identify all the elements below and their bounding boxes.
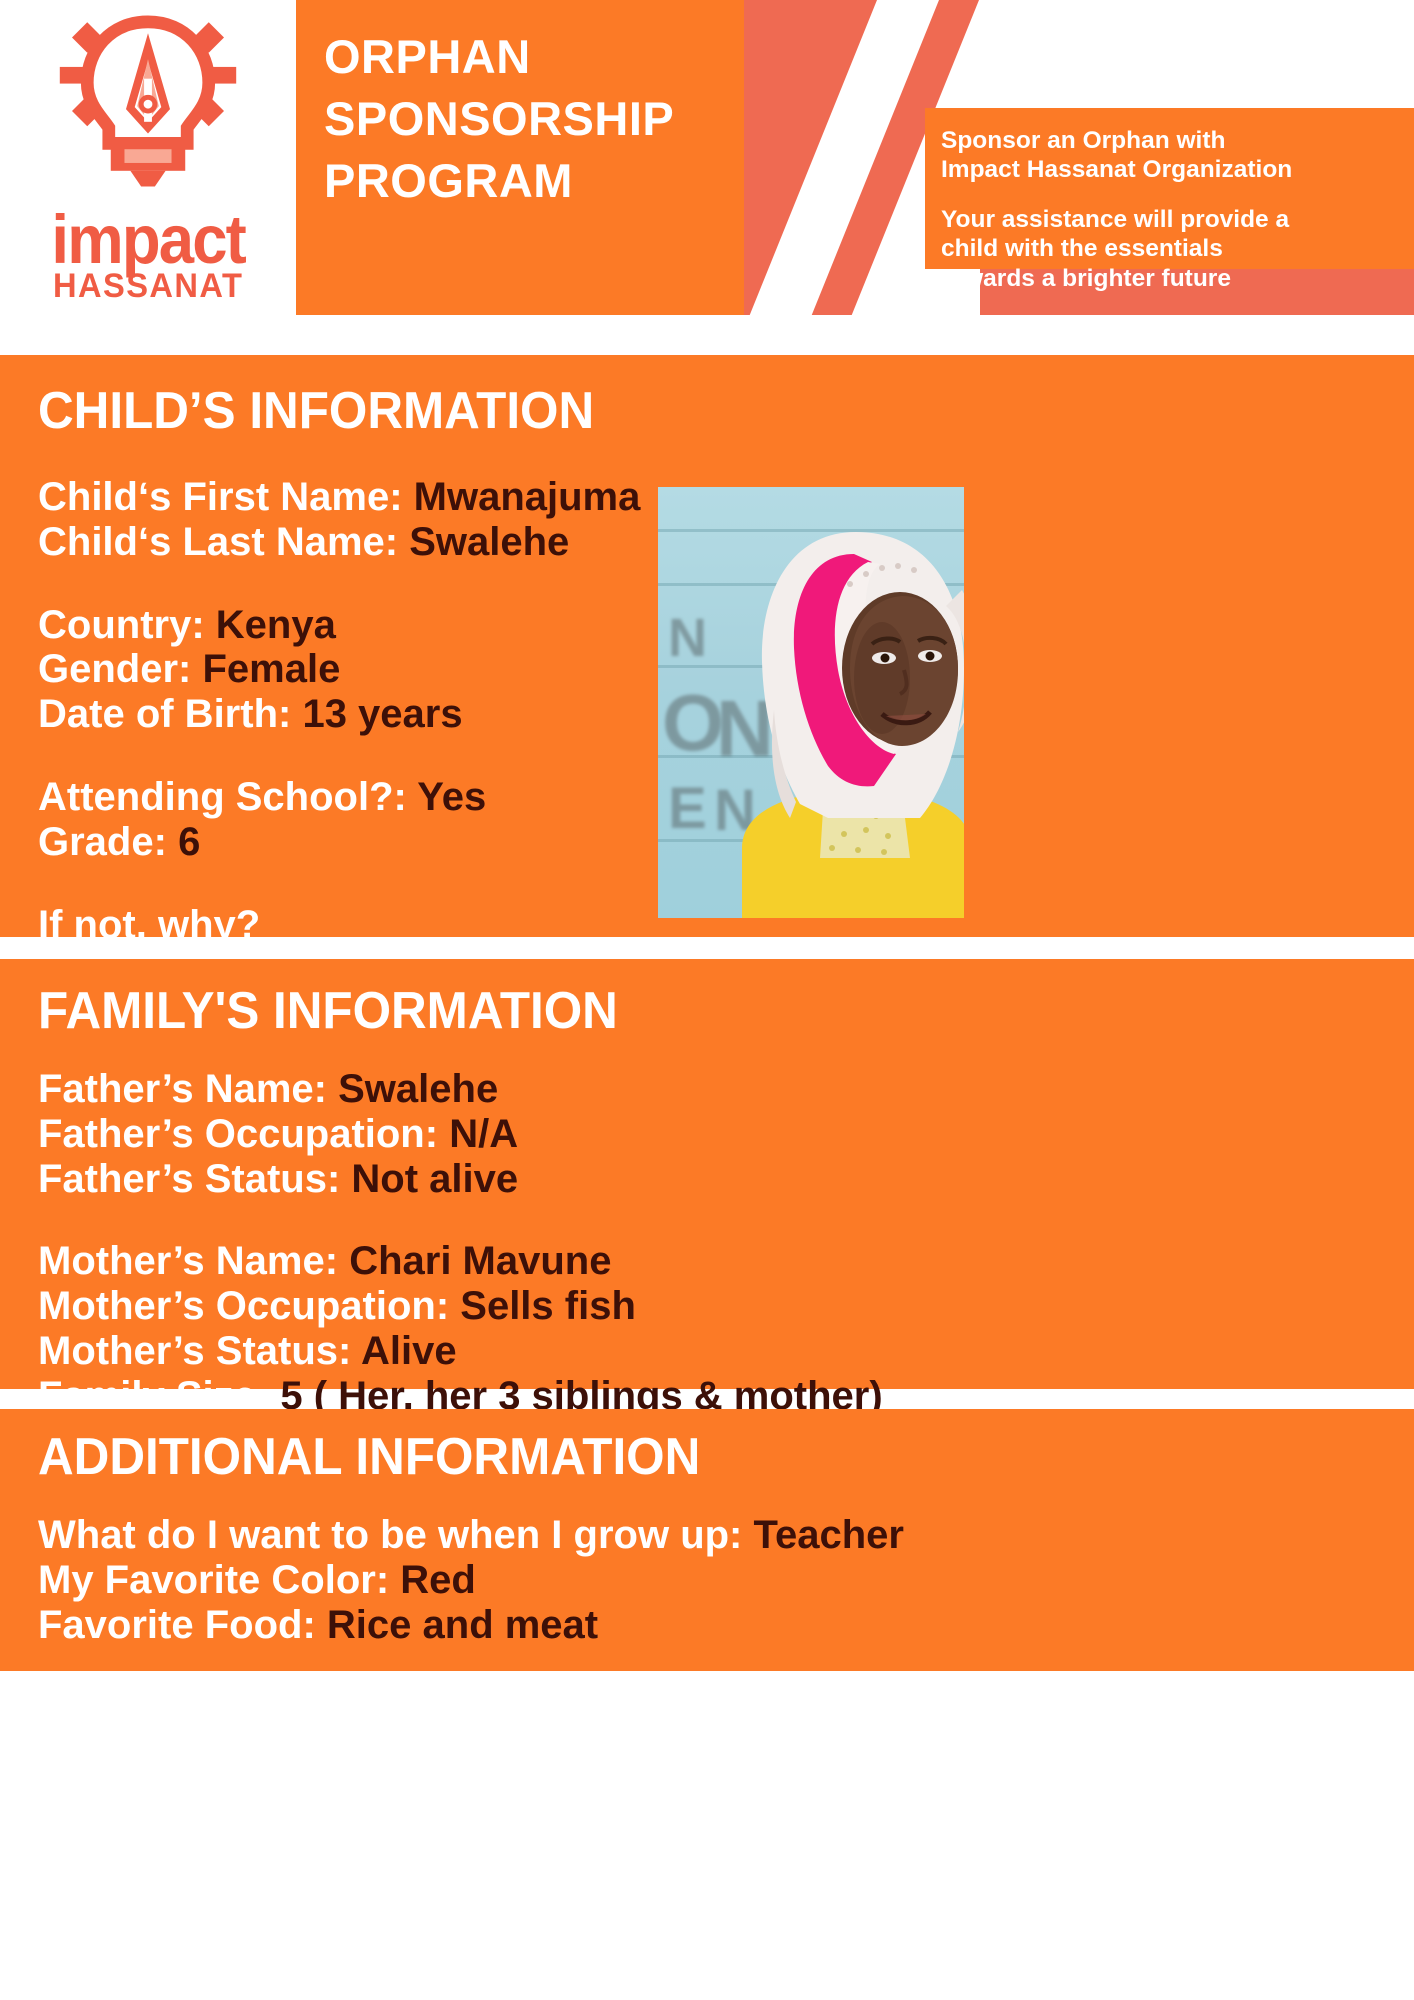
field-label: My Favorite Color:	[38, 1558, 389, 1602]
badge-paragraph-2: Your assistance will provide a child wit…	[941, 205, 1411, 293]
field-value: Sells fish	[460, 1284, 636, 1328]
field-attending-school: Attending School?: Yes	[38, 775, 658, 820]
badge-paragraph-1: Sponsor an Orphan with Impact Hassanat O…	[941, 126, 1411, 185]
field-label: Mother’s Name:	[38, 1239, 338, 1283]
field-label: Date of Birth:	[38, 692, 291, 736]
field-value: Swalehe	[338, 1067, 498, 1111]
page-title: ORPHAN SPONSORSHIP PROGRAM	[324, 26, 734, 212]
field-label: Attending School?:	[38, 775, 407, 819]
additional-information-section: ADDITIONAL INFORMATION What do I want to…	[0, 1409, 1414, 1671]
program-title-block: ORPHAN SPONSORSHIP PROGRAM	[296, 0, 744, 315]
field-gender: Gender: Female	[38, 647, 658, 692]
field-favorite-food: Favorite Food: Rice and meat	[38, 1603, 1414, 1648]
lightbulb-pen-icon	[50, 14, 246, 210]
field-child-first-name: Child‘s First Name: Mwanajuma	[38, 475, 658, 520]
title-line-1: ORPHAN	[324, 26, 734, 88]
family-information-section: FAMILY'S INFORMATION Father’s Name: Swal…	[0, 959, 1414, 1389]
field-label: Gender:	[38, 647, 191, 691]
field-mother-status: Mother’s Status: Alive	[38, 1329, 1414, 1374]
field-label: Father’s Name:	[38, 1067, 327, 1111]
title-line-2: SPONSORSHIP	[324, 88, 734, 150]
sponsor-badge: Sponsor an Orphan with Impact Hassanat O…	[744, 0, 1414, 315]
field-value: Swalehe	[409, 520, 569, 564]
field-label: Child‘s Last Name:	[38, 520, 398, 564]
field-label: Favorite Food:	[38, 1603, 316, 1647]
sponsorship-card-page: impact HASSANAT ORPHAN SPONSORSHIP PROGR…	[0, 0, 1414, 2000]
badge-line-2: Impact Hassanat Organization	[941, 156, 1292, 183]
field-value: Teacher	[754, 1513, 904, 1557]
child-photo: N O N E N	[658, 487, 964, 918]
field-grade: Grade: 6	[38, 820, 658, 865]
field-child-last-name: Child‘s Last Name: Swalehe	[38, 520, 658, 565]
child-information-section: CHILD’S INFORMATION Child‘s First Name: …	[0, 355, 1414, 937]
brand-logo: impact HASSANAT	[0, 0, 296, 355]
logo-wordmark: impact	[51, 212, 245, 267]
field-value: Red	[400, 1558, 476, 1602]
field-value: Chari Mavune	[349, 1239, 611, 1283]
field-grow-up-goal: What do I want to be when I grow up: Tea…	[38, 1513, 1414, 1558]
field-label: Child‘s First Name:	[38, 475, 403, 519]
sponsor-badge-text: Sponsor an Orphan with Impact Hassanat O…	[941, 126, 1411, 293]
child-fields: Child‘s First Name: Mwanajuma Child‘s La…	[38, 475, 658, 947]
spacer	[38, 865, 658, 903]
child-section-body: Child‘s First Name: Mwanajuma Child‘s La…	[38, 475, 1414, 947]
field-country: Country: Kenya	[38, 603, 658, 648]
field-label: Mother’s Occupation:	[38, 1284, 449, 1328]
field-father-status: Father’s Status: Not alive	[38, 1157, 1414, 1202]
field-label: Mother’s Status:	[38, 1329, 351, 1373]
header-diagonal-decoration: Sponsor an Orphan with Impact Hassanat O…	[744, 0, 1414, 315]
field-value: Rice and meat	[327, 1603, 598, 1647]
field-value: Kenya	[216, 603, 336, 647]
field-favorite-color: My Favorite Color: Red	[38, 1558, 1414, 1603]
sponsor-badge-panel: Sponsor an Orphan with Impact Hassanat O…	[925, 108, 1414, 269]
spacer	[38, 565, 658, 603]
field-value: Alive	[361, 1329, 457, 1373]
field-date-of-birth: Date of Birth: 13 years	[38, 692, 658, 737]
spacer	[38, 1201, 1414, 1239]
header: impact HASSANAT ORPHAN SPONSORSHIP PROGR…	[0, 0, 1414, 355]
field-value: 13 years	[302, 692, 462, 736]
spacer	[38, 737, 658, 775]
family-section-title: FAMILY'S INFORMATION	[38, 981, 1345, 1041]
field-if-not-why: If not, why?	[38, 903, 658, 948]
child-section-title: CHILD’S INFORMATION	[38, 381, 1345, 441]
badge-line-1: Sponsor an Orphan with	[941, 127, 1225, 154]
field-label: Father’s Occupation:	[38, 1112, 438, 1156]
field-mother-occupation: Mother’s Occupation: Sells fish	[38, 1284, 1414, 1329]
field-father-occupation: Father’s Occupation: N/A	[38, 1112, 1414, 1157]
field-value: Female	[202, 647, 340, 691]
field-father-name: Father’s Name: Swalehe	[38, 1067, 1414, 1112]
field-value: Not alive	[351, 1157, 518, 1201]
field-value: Yes	[417, 775, 486, 819]
badge-line-3: Your assistance will provide a	[941, 206, 1289, 233]
logo-subtitle: HASSANAT	[53, 267, 243, 306]
field-label: If not, why?	[38, 903, 260, 947]
field-label: Father’s Status:	[38, 1157, 340, 1201]
field-label: What do I want to be when I grow up:	[38, 1513, 742, 1557]
field-mother-name: Mother’s Name: Chari Mavune	[38, 1239, 1414, 1284]
additional-section-title: ADDITIONAL INFORMATION	[38, 1427, 1345, 1487]
badge-line-4: child with the essentials	[941, 235, 1223, 262]
field-label: Country:	[38, 603, 205, 647]
badge-line-5: towards a brighter future	[941, 265, 1231, 292]
field-label: Grade:	[38, 820, 167, 864]
field-value: 6	[178, 820, 200, 864]
field-value: Mwanajuma	[414, 475, 641, 519]
title-line-3: PROGRAM	[324, 150, 734, 212]
field-value: N/A	[449, 1112, 518, 1156]
